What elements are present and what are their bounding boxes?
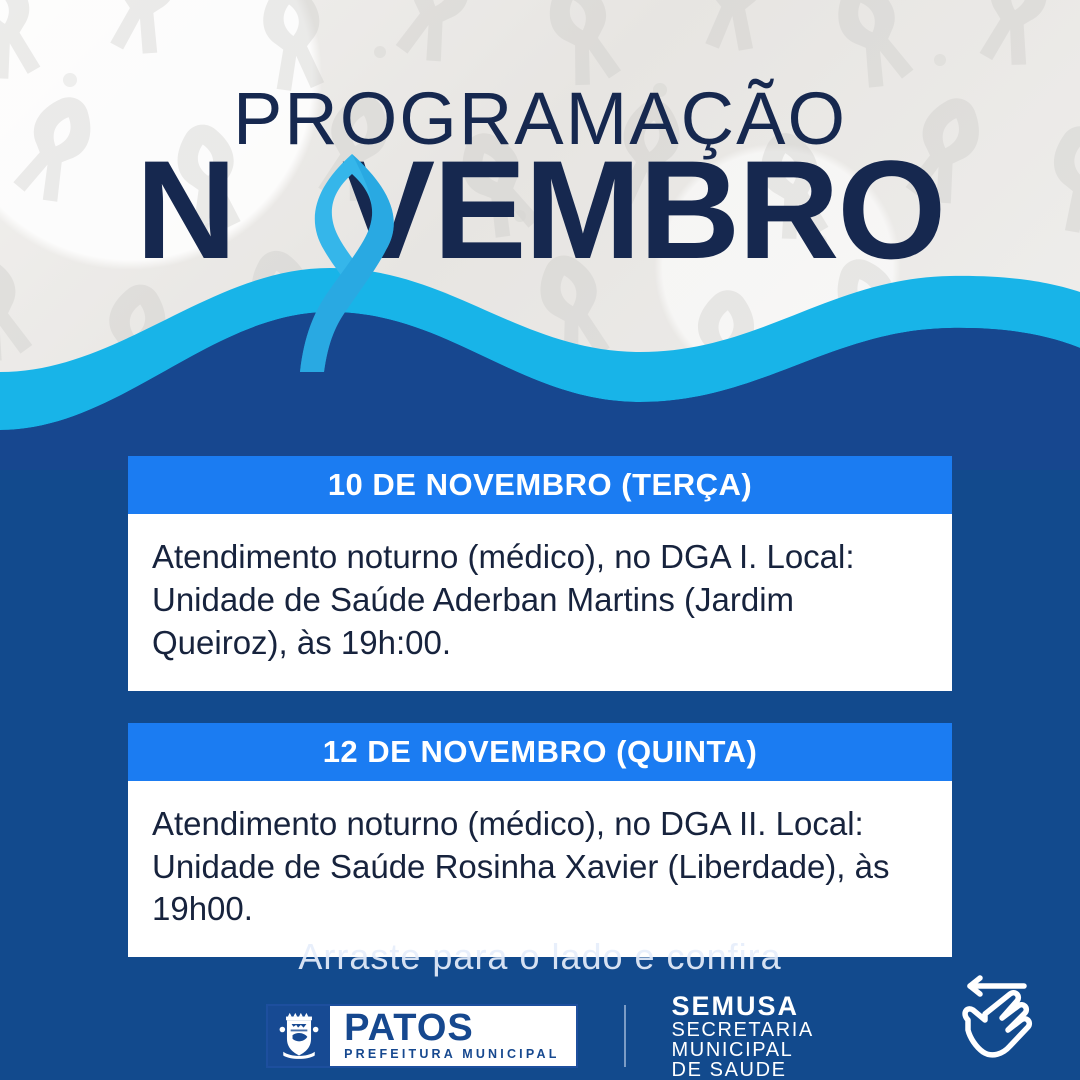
semusa-line-2: MUNICIPAL	[672, 1040, 814, 1060]
poster-root: PROGRAMAÇÃO NOVEMBRO 10 DE NOVEMBRO (TER…	[0, 0, 1080, 1080]
blue-ribbon-icon	[262, 146, 442, 376]
title-novembro: NOVEMBRO	[0, 140, 1080, 280]
semusa-line-1: SECRETARIA	[672, 1020, 814, 1040]
schedule-date-header: 10 DE NOVEMBRO (TERÇA)	[128, 456, 952, 514]
coat-of-arms-shield	[274, 1011, 324, 1061]
semusa-name: SEMUSA	[672, 993, 814, 1020]
semusa-logo: SEMUSA SECRETARIA MUNICIPAL DE SAUDE	[672, 993, 814, 1080]
footer-logos: PATOS PREFEITURA MUNICIPAL SEMUSA SECRET…	[0, 1000, 1080, 1072]
patos-coat-of-arms-icon	[268, 1006, 330, 1066]
schedule-description: Atendimento noturno (médico), no DGA I. …	[128, 514, 952, 691]
semusa-line-3: DE SAUDE	[672, 1060, 814, 1080]
schedule-card: 12 DE NOVEMBRO (QUINTA) Atendimento notu…	[128, 723, 952, 958]
swipe-left-hand-icon	[948, 962, 1052, 1068]
patos-name: PATOS	[344, 1011, 559, 1046]
schedule-card: 10 DE NOVEMBRO (TERÇA) Atendimento notur…	[128, 456, 952, 691]
patos-subtitle: PREFEITURA MUNICIPAL	[344, 1048, 559, 1062]
schedule-list: 10 DE NOVEMBRO (TERÇA) Atendimento notur…	[128, 456, 952, 989]
logo-divider	[624, 1005, 626, 1067]
title-programacao: PROGRAMAÇÃO	[0, 82, 1080, 156]
schedule-description: Atendimento noturno (médico), no DGA II.…	[128, 781, 952, 958]
swipe-hint-text: Arraste para o lado e confira	[0, 936, 1080, 978]
patos-prefeitura-logo: PATOS PREFEITURA MUNICIPAL	[266, 1004, 577, 1068]
patos-wordmark: PATOS PREFEITURA MUNICIPAL	[330, 1006, 575, 1066]
schedule-date-header: 12 DE NOVEMBRO (QUINTA)	[128, 723, 952, 781]
